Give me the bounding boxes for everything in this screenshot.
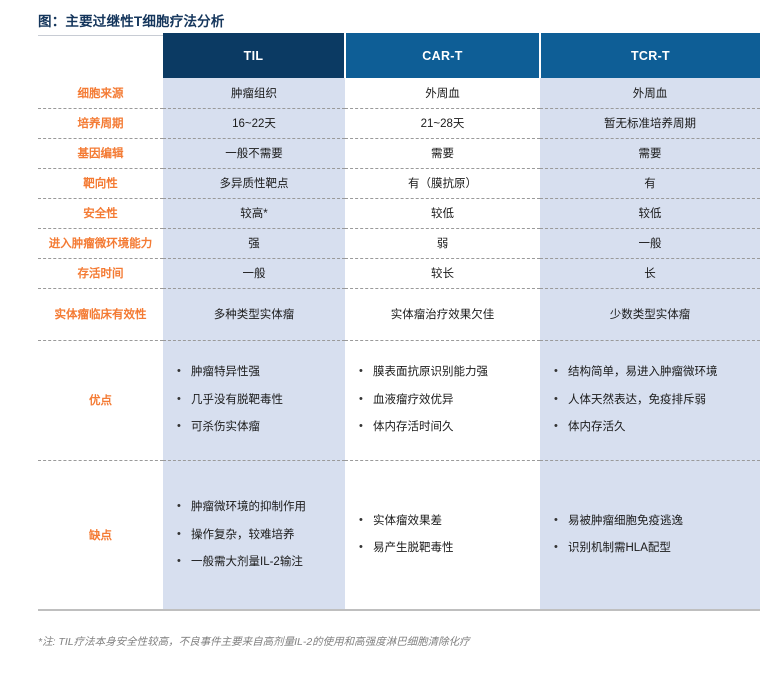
list-item: •易被肿瘤细胞免疫逃逸 — [554, 514, 750, 528]
cell-til: 16~22天 — [163, 108, 345, 138]
table-body: 细胞来源 肿瘤组织 外周血 外周血 培养周期 16~22天 21~28天 暂无标… — [38, 78, 760, 610]
list-item: •肿瘤特异性强 — [177, 365, 335, 379]
cell-tcr-t: 有 — [540, 168, 760, 198]
table-row: 安全性 较高* 较低 较低 — [38, 198, 760, 228]
bullet-dot-icon: • — [359, 420, 373, 434]
row-label: 基因编辑 — [38, 138, 163, 168]
cell-car-t: 实体瘤治疗效果欠佳 — [345, 288, 540, 340]
header-cell-tcr-t: TCR-T — [540, 33, 760, 78]
list-item-label: 操作复杂，较难培养 — [191, 528, 335, 542]
cell-car-t: 外周血 — [345, 78, 540, 108]
bullet-dot-icon: • — [177, 528, 191, 542]
list-item: •一般需大剂量IL-2输注 — [177, 555, 335, 569]
cell-car-t: •膜表面抗原识别能力强 •血液瘤疗效优异 •体内存活时间久 — [345, 340, 540, 460]
cell-til: 多异质性靶点 — [163, 168, 345, 198]
page-title: 图：主要过继性T细胞疗法分析 — [38, 10, 738, 30]
table-row-pros: 优点 •肿瘤特异性强 •几乎没有脱靶毒性 •可杀伤实体瘤 •膜表面抗原识别能力强… — [38, 340, 760, 460]
bullet-dot-icon: • — [359, 365, 373, 379]
cell-til: •肿瘤微环境的抑制作用 •操作复杂，较难培养 •一般需大剂量IL-2输注 — [163, 460, 345, 610]
list-item: •可杀伤实体瘤 — [177, 420, 335, 434]
row-label: 安全性 — [38, 198, 163, 228]
bullet-dot-icon: • — [177, 555, 191, 569]
list-item: •几乎没有脱靶毒性 — [177, 393, 335, 407]
bullet-list-til-cons: •肿瘤微环境的抑制作用 •操作复杂，较难培养 •一般需大剂量IL-2输注 — [167, 500, 341, 569]
cell-tcr-t: 需要 — [540, 138, 760, 168]
list-item-label: 膜表面抗原识别能力强 — [373, 365, 530, 379]
bullet-dot-icon: • — [554, 365, 568, 379]
cell-til: 肿瘤组织 — [163, 78, 345, 108]
bullet-list-tcr-t-cons: •易被肿瘤细胞免疫逃逸 •识别机制需HLA配型 — [544, 514, 756, 556]
list-item-label: 结构简单，易进入肿瘤微环境 — [568, 365, 750, 379]
table-row: 靶向性 多异质性靶点 有（膜抗原） 有 — [38, 168, 760, 198]
table-row-cons: 缺点 •肿瘤微环境的抑制作用 •操作复杂，较难培养 •一般需大剂量IL-2输注 … — [38, 460, 760, 610]
list-item: •人体天然表达，免疫排斥弱 — [554, 393, 750, 407]
bullet-dot-icon: • — [554, 420, 568, 434]
list-item-label: 几乎没有脱靶毒性 — [191, 393, 335, 407]
list-item: •易产生脱靶毒性 — [359, 541, 530, 555]
row-label: 培养周期 — [38, 108, 163, 138]
list-item-label: 肿瘤微环境的抑制作用 — [191, 500, 335, 514]
cell-til: 强 — [163, 228, 345, 258]
list-item: •膜表面抗原识别能力强 — [359, 365, 530, 379]
list-item-label: 体内存活时间久 — [373, 420, 530, 434]
table-row: 基因编辑 一般不需要 需要 需要 — [38, 138, 760, 168]
cell-car-t: 有（膜抗原） — [345, 168, 540, 198]
cell-til: 一般 — [163, 258, 345, 288]
cell-car-t: 21~28天 — [345, 108, 540, 138]
bullet-dot-icon: • — [359, 541, 373, 555]
cell-tcr-t: 较低 — [540, 198, 760, 228]
table-header-row: TIL CAR-T TCR-T — [38, 33, 760, 78]
list-item-label: 可杀伤实体瘤 — [191, 420, 335, 434]
comparison-table: TIL CAR-T TCR-T 细胞来源 肿瘤组织 外周血 外周血 培养周期 1… — [38, 33, 760, 611]
table-row: 实体瘤临床有效性 多种类型实体瘤 实体瘤治疗效果欠佳 少数类型实体瘤 — [38, 288, 760, 340]
list-item: •体内存活久 — [554, 420, 750, 434]
bullet-list-car-t-pros: •膜表面抗原识别能力强 •血液瘤疗效优异 •体内存活时间久 — [349, 365, 536, 434]
list-item: •操作复杂，较难培养 — [177, 528, 335, 542]
bullet-dot-icon: • — [554, 541, 568, 555]
list-item-label: 肿瘤特异性强 — [191, 365, 335, 379]
bullet-dot-icon: • — [359, 514, 373, 528]
header-cell-til: TIL — [163, 33, 345, 78]
cell-tcr-t: 暂无标准培养周期 — [540, 108, 760, 138]
cell-til: 多种类型实体瘤 — [163, 288, 345, 340]
list-item-label: 人体天然表达，免疫排斥弱 — [568, 393, 750, 407]
cell-tcr-t: •易被肿瘤细胞免疫逃逸 •识别机制需HLA配型 — [540, 460, 760, 610]
list-item-label: 易被肿瘤细胞免疫逃逸 — [568, 514, 750, 528]
figure-page: 图：主要过继性T细胞疗法分析 TIL CAR-T TCR-T 细胞来源 肿瘤组织… — [0, 0, 775, 676]
list-item: •结构简单，易进入肿瘤微环境 — [554, 365, 750, 379]
row-label: 缺点 — [38, 460, 163, 610]
cell-til: •肿瘤特异性强 •几乎没有脱靶毒性 •可杀伤实体瘤 — [163, 340, 345, 460]
list-item: •血液瘤疗效优异 — [359, 393, 530, 407]
header-cell-car-t: CAR-T — [345, 33, 540, 78]
bullet-dot-icon: • — [554, 393, 568, 407]
cell-car-t: 较低 — [345, 198, 540, 228]
footnote-text: *注: TIL疗法本身安全性较高，不良事件主要来自高剂量IL-2的使用和高强度淋… — [38, 634, 748, 649]
table-row: 培养周期 16~22天 21~28天 暂无标准培养周期 — [38, 108, 760, 138]
cell-tcr-t: 外周血 — [540, 78, 760, 108]
bullet-list-til-pros: •肿瘤特异性强 •几乎没有脱靶毒性 •可杀伤实体瘤 — [167, 365, 341, 434]
header-cell-blank — [38, 33, 163, 78]
list-item: •肿瘤微环境的抑制作用 — [177, 500, 335, 514]
cell-car-t: 较长 — [345, 258, 540, 288]
bullet-list-tcr-t-pros: •结构简单，易进入肿瘤微环境 •人体天然表达，免疫排斥弱 •体内存活久 — [544, 365, 756, 434]
table-row: 细胞来源 肿瘤组织 外周血 外周血 — [38, 78, 760, 108]
cell-til: 一般不需要 — [163, 138, 345, 168]
cell-tcr-t: 一般 — [540, 228, 760, 258]
list-item-label: 易产生脱靶毒性 — [373, 541, 530, 555]
bullet-dot-icon: • — [177, 393, 191, 407]
cell-tcr-t: 长 — [540, 258, 760, 288]
bullet-dot-icon: • — [177, 420, 191, 434]
bullet-dot-icon: • — [554, 514, 568, 528]
row-label: 实体瘤临床有效性 — [38, 288, 163, 340]
cell-car-t: 弱 — [345, 228, 540, 258]
cell-tcr-t: 少数类型实体瘤 — [540, 288, 760, 340]
list-item-label: 体内存活久 — [568, 420, 750, 434]
cell-car-t: 需要 — [345, 138, 540, 168]
bullet-dot-icon: • — [177, 365, 191, 379]
cell-car-t: •实体瘤效果差 •易产生脱靶毒性 — [345, 460, 540, 610]
list-item-label: 识别机制需HLA配型 — [568, 541, 750, 555]
table-row: 存活时间 一般 较长 长 — [38, 258, 760, 288]
list-item: •识别机制需HLA配型 — [554, 541, 750, 555]
table-row: 进入肿瘤微环境能力 强 弱 一般 — [38, 228, 760, 258]
list-item-label: 一般需大剂量IL-2输注 — [191, 555, 335, 569]
row-label: 进入肿瘤微环境能力 — [38, 228, 163, 258]
list-item-label: 实体瘤效果差 — [373, 514, 530, 528]
bullet-dot-icon: • — [359, 393, 373, 407]
row-label: 存活时间 — [38, 258, 163, 288]
row-label: 靶向性 — [38, 168, 163, 198]
bullet-list-car-t-cons: •实体瘤效果差 •易产生脱靶毒性 — [349, 514, 536, 556]
row-label: 细胞来源 — [38, 78, 163, 108]
cell-tcr-t: •结构简单，易进入肿瘤微环境 •人体天然表达，免疫排斥弱 •体内存活久 — [540, 340, 760, 460]
list-item-label: 血液瘤疗效优异 — [373, 393, 530, 407]
row-label: 优点 — [38, 340, 163, 460]
list-item: •实体瘤效果差 — [359, 514, 530, 528]
cell-til: 较高* — [163, 198, 345, 228]
bullet-dot-icon: • — [177, 500, 191, 514]
list-item: •体内存活时间久 — [359, 420, 530, 434]
